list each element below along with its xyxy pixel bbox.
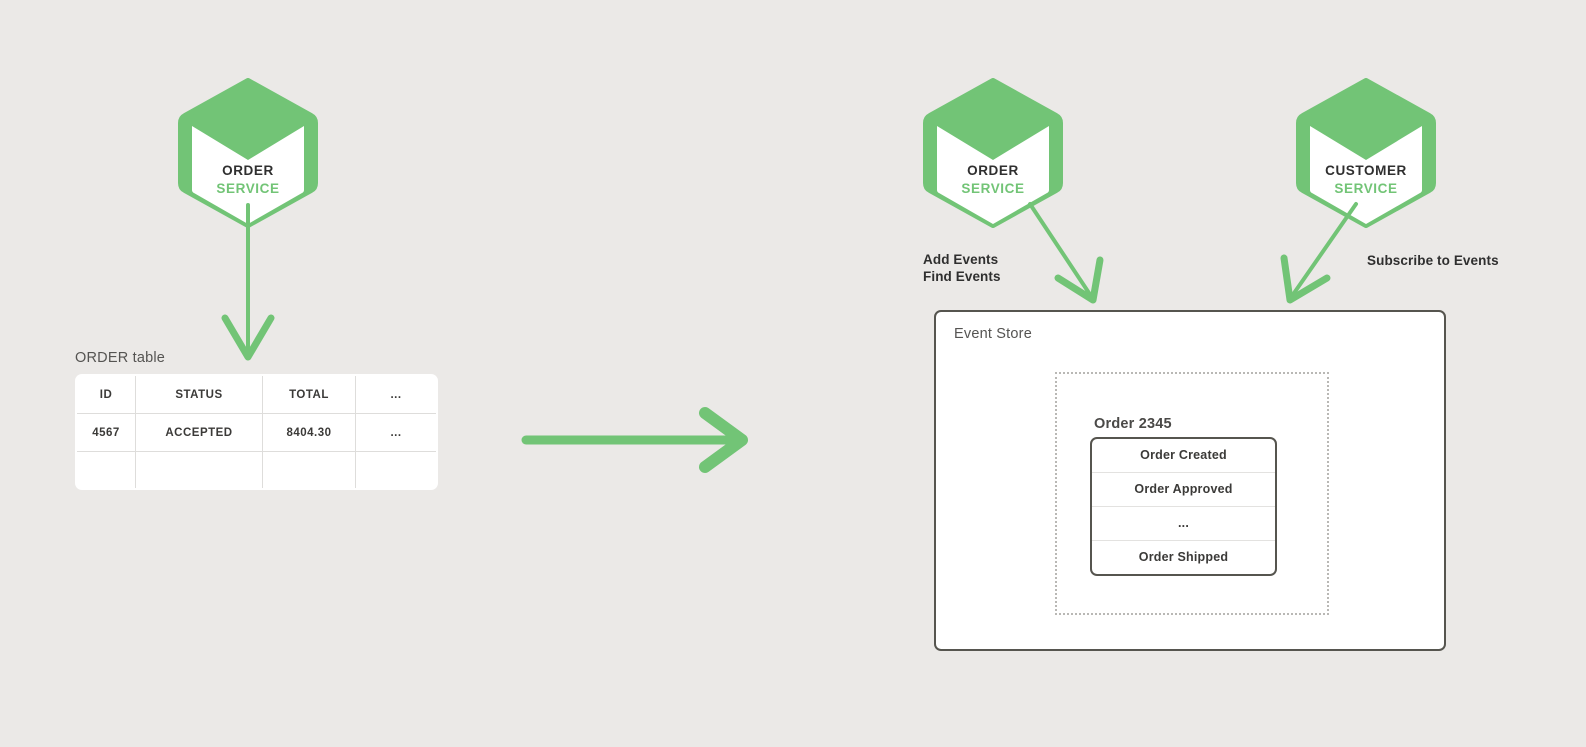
- table-header-cell: TOTAL: [263, 375, 356, 414]
- arrow-down-left-icon: [1262, 196, 1372, 311]
- table-header-row: ID STATUS TOTAL ...: [76, 375, 437, 414]
- order-table: ID STATUS TOTAL ... 4567 ACCEPTED 8404.3…: [75, 374, 438, 490]
- table-cell-empty: [263, 452, 356, 490]
- table-cell-total: 8404.30: [263, 414, 356, 452]
- table-row-empty: [76, 452, 437, 490]
- event-store-title: Event Store: [954, 326, 1032, 342]
- table-cell-empty: [76, 452, 136, 490]
- list-item: Order Created: [1092, 439, 1275, 473]
- table-header-cell: STATUS: [136, 375, 263, 414]
- flow-label-subscribe-to-events: Subscribe to Events: [1367, 252, 1499, 269]
- arrow-right-icon: [520, 408, 760, 472]
- table-row: 4567 ACCEPTED 8404.30 ...: [76, 414, 437, 452]
- list-item: ...: [1092, 507, 1275, 541]
- aggregate-title: Order 2345: [1094, 416, 1172, 432]
- table-header-cell: ID: [76, 375, 136, 414]
- flow-label-add-find-events: Add Events Find Events: [923, 251, 1001, 286]
- table-cell-more: ...: [356, 414, 438, 452]
- list-item: Order Shipped: [1092, 541, 1275, 574]
- table-cell-status: ACCEPTED: [136, 414, 263, 452]
- table-cell-id: 4567: [76, 414, 136, 452]
- list-item: Order Approved: [1092, 473, 1275, 507]
- arrow-down-right-icon: [1018, 196, 1128, 311]
- flow-label-find-events: Find Events: [923, 268, 1001, 285]
- table-cell-empty: [356, 452, 438, 490]
- table-header-cell: ...: [356, 375, 438, 414]
- flow-label-add-events: Add Events: [923, 251, 1001, 268]
- event-list: Order Created Order Approved ... Order S…: [1090, 437, 1277, 576]
- order-table-caption: ORDER table: [75, 350, 417, 366]
- order-table-block: ORDER table ID STATUS TOTAL ... 4567 ACC…: [75, 350, 417, 490]
- diagram-canvas: ORDER SERVICE ORDER table ID STATUS TOTA…: [0, 0, 1586, 747]
- table-cell-empty: [136, 452, 263, 490]
